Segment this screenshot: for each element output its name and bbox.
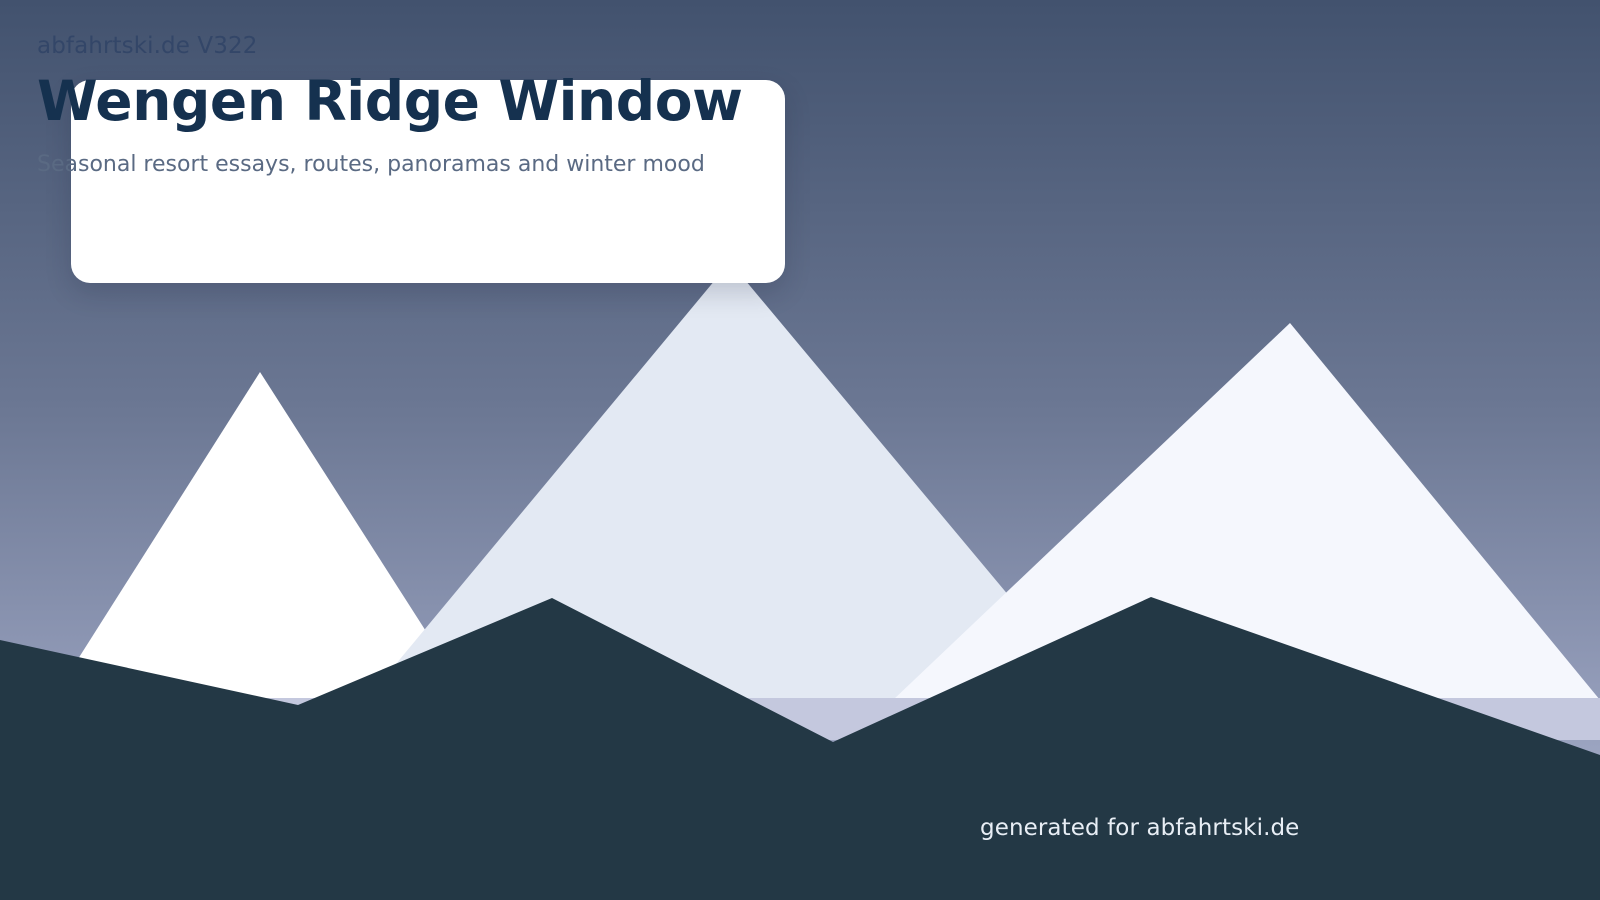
- page-title: Wengen Ridge Window: [37, 69, 1037, 133]
- hero-banner: abfahrtski.de V322 Wengen Ridge Window S…: [0, 0, 1600, 900]
- page-subtitle: Seasonal resort essays, routes, panorama…: [37, 151, 1037, 179]
- title-card-content: abfahrtski.de V322 Wengen Ridge Window S…: [37, 32, 1037, 179]
- site-version-label: abfahrtski.de V322: [37, 32, 1037, 60]
- generated-for-label: generated for abfahrtski.de: [980, 812, 1299, 844]
